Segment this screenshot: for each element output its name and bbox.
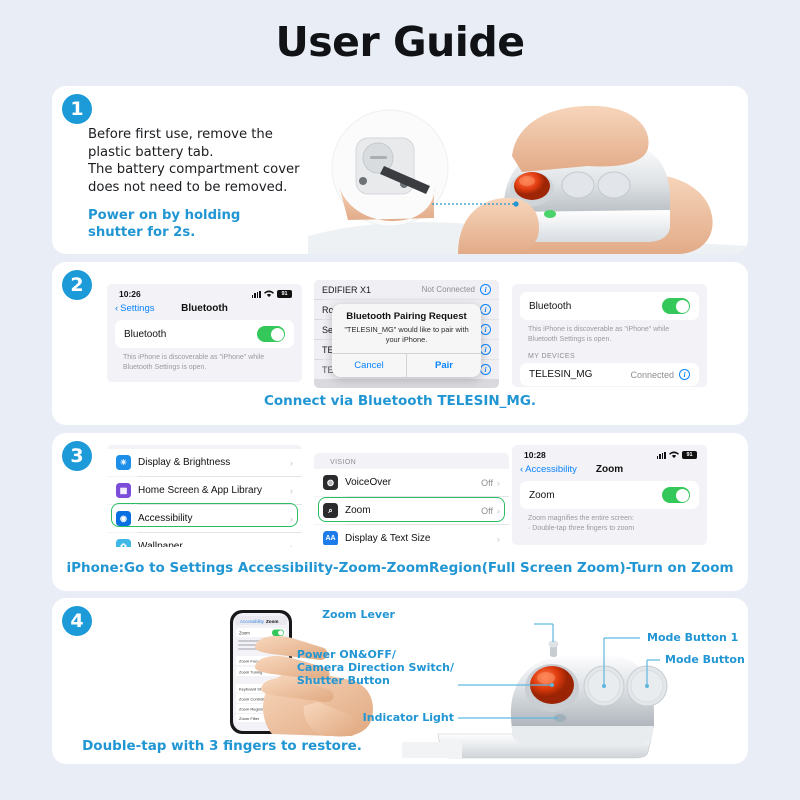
callout-power-shutter: Power ON&OFF/ Camera Direction Switch/ S… [297, 648, 454, 687]
battery-icon: 91 [682, 451, 697, 459]
step-2-panel: 2 10:26 91 ‹ Settings Bluetooth [52, 262, 748, 425]
vision-row-zoom[interactable]: ⌕ Zoom Off › [314, 497, 509, 524]
home-screen-icon: ▦ [116, 483, 131, 498]
bluetooth-toggle[interactable] [662, 298, 690, 314]
status-time: 10:28 [524, 450, 546, 460]
vision-row-label: Zoom [345, 505, 371, 516]
info-icon[interactable]: i [480, 304, 491, 315]
pairing-dialog: Bluetooth Pairing Request "TELESIN_MG" w… [332, 304, 481, 377]
info-icon[interactable]: i [480, 344, 491, 355]
bluetooth-row-label: Bluetooth [124, 329, 166, 340]
zoom-row-label: Zoom [529, 490, 555, 501]
paired-device-status: Connected [630, 370, 674, 380]
info-icon[interactable]: i [480, 324, 491, 335]
bluetooth-connected-screen: Bluetooth This iPhone is discoverable as… [512, 284, 707, 387]
chevron-right-icon: › [290, 514, 293, 524]
bluetooth-footnote: This iPhone is discoverable as "iPhone" … [512, 320, 707, 345]
svg-text:Zoom: Zoom [239, 631, 250, 636]
wifi-icon [264, 290, 274, 298]
voiceover-icon: ◍ [323, 475, 338, 490]
device-status: Not Connected [422, 285, 475, 294]
nav-title: Bluetooth [107, 303, 302, 314]
settings-row-label: Home Screen & App Library [138, 485, 262, 496]
info-icon[interactable]: i [679, 369, 690, 380]
svg-text:Zoom Filter: Zoom Filter [239, 716, 260, 721]
step-3-caption: iPhone:Go to Settings Accessibility-Zoom… [52, 560, 748, 576]
callout-power-line-3: Shutter Button [297, 674, 454, 687]
wallpaper-icon: ✿ [116, 539, 131, 547]
status-bar: 10:26 91 [107, 284, 302, 301]
settings-row-home-screen[interactable]: ▦ Home Screen & App Library › [107, 477, 302, 504]
callout-mode-button-2: Mode Button 2 [665, 653, 748, 666]
settings-row-label: Display & Brightness [138, 457, 230, 468]
bluetooth-toggle[interactable] [257, 326, 285, 342]
step-4-panel: 4 Accessibility Zoom Zoom [52, 598, 748, 764]
step-3-badge: 3 [62, 441, 92, 471]
bluetooth-settings-screen: 10:26 91 ‹ Settings Bluetooth Bluetooth [107, 284, 302, 382]
chevron-right-icon: › [497, 506, 500, 516]
callout-power-line-1: Power ON&OFF/ [297, 648, 454, 661]
callout-indicator-light: Indicator Light [363, 711, 454, 724]
battery-icon: 91 [277, 290, 292, 298]
vision-group-header: VISION [314, 453, 509, 469]
nav-bar: ‹ Accessibility Zoom [512, 462, 707, 481]
device-name: EDIFIER X1 [322, 285, 371, 295]
pair-button[interactable]: Pair [407, 354, 481, 377]
vision-row-label: VoiceOver [345, 477, 391, 488]
signal-icon [657, 452, 666, 459]
my-devices-header: MY DEVICES [512, 345, 707, 363]
bluetooth-footnote: This iPhone is discoverable as "iPhone" … [107, 348, 302, 373]
text-size-icon: AA [323, 531, 338, 545]
step-4-badge: 4 [62, 606, 92, 636]
page-title: User Guide [0, 0, 800, 66]
step-1-accent-line-1: Power on by holding [88, 207, 338, 224]
signal-icon [252, 291, 261, 298]
vision-row-label: Display & Text Size [345, 533, 430, 544]
step-1-line-2: plastic battery tab. [88, 144, 338, 162]
zoom-toggle-row[interactable]: Zoom [520, 481, 699, 509]
dialog-title: Bluetooth Pairing Request [332, 304, 481, 325]
callout-power-line-2: Camera Direction Switch/ [297, 661, 454, 674]
svg-text:Accessibility: Accessibility [240, 619, 265, 624]
settings-row-label: Accessibility [138, 513, 192, 524]
svg-text:Zoom Region: Zoom Region [239, 707, 263, 712]
vision-row-value: Off [481, 506, 493, 516]
zoom-toggle[interactable] [662, 487, 690, 503]
chevron-right-icon: › [497, 534, 500, 544]
callout-mode-button-1: Mode Button 1 [647, 631, 738, 644]
settings-row-display-brightness[interactable]: ☀ Display & Brightness › [107, 449, 302, 476]
accessibility-vision-screen: VISION ◍ VoiceOver Off › ⌕ Zoom Off › AA… [314, 453, 509, 545]
zoom-footnote-line-1: Zoom magnifies the entire screen: [512, 509, 707, 524]
step-4-caption: Double-tap with 3 fingers to restore. [52, 738, 392, 754]
step-1-accent-line-2: shutter for 2s. [88, 224, 338, 241]
settings-row-wallpaper[interactable]: ✿ Wallpaper › [107, 533, 302, 547]
settings-list-screen: ☀ Display & Brightness › ▦ Home Screen &… [107, 445, 302, 547]
chevron-right-icon: › [290, 486, 293, 496]
info-icon[interactable]: i [480, 284, 491, 295]
zoom-icon: ⌕ [323, 503, 338, 518]
step-1-panel: 1 Before first use, remove the plastic b… [52, 86, 748, 254]
step-2-caption: Connect via Bluetooth TELESIN_MG. [52, 393, 748, 409]
bluetooth-toggle-row[interactable]: Bluetooth [115, 320, 294, 348]
vision-row-value: Off [481, 478, 493, 488]
zoom-settings-screen: 10:28 91 ‹ Accessibility Zoom Zoom [512, 445, 707, 545]
accessibility-icon: ◉ [116, 511, 131, 526]
chevron-right-icon: › [290, 458, 293, 468]
callout-zoom-lever: Zoom Lever [322, 608, 395, 621]
step-1-line-1: Before first use, remove the [88, 126, 338, 144]
step-3-panel: 3 ☀ Display & Brightness › ▦ Home Screen… [52, 433, 748, 591]
user-guide-page: User Guide 1 Before first use, remove th… [0, 0, 800, 800]
chevron-right-icon: › [497, 478, 500, 488]
svg-text:Zoom: Zoom [266, 619, 279, 624]
step-2-badge: 2 [62, 270, 92, 300]
status-time: 10:26 [119, 289, 141, 299]
pairing-request-screen: EDIFIER X1 Not Connected i Rou i Self i … [314, 280, 499, 388]
device-row[interactable]: EDIFIER X1 Not Connected i [314, 280, 499, 299]
wifi-icon [669, 451, 679, 459]
dialog-body: "TELESIN_MG" would like to pair with you… [332, 325, 481, 353]
info-icon[interactable]: i [480, 364, 491, 375]
remote-in-hand-photo [308, 86, 748, 254]
paired-device-name: TELESIN_MG [529, 369, 592, 380]
bluetooth-row-label: Bluetooth [529, 301, 571, 312]
nav-bar: ‹ Settings Bluetooth [107, 301, 302, 320]
vision-row-display-text-size[interactable]: AA Display & Text Size › [314, 525, 509, 545]
vision-row-voiceover[interactable]: ◍ VoiceOver Off › [314, 469, 509, 496]
zoom-footnote-line-2: · Double-tap three fingers to zoom [512, 524, 707, 534]
settings-row-accessibility[interactable]: ◉ Accessibility › [107, 505, 302, 532]
status-bar: 10:28 91 [512, 445, 707, 462]
bluetooth-toggle-row[interactable]: Bluetooth [520, 292, 699, 320]
settings-row-label: Wallpaper [138, 541, 183, 547]
chevron-right-icon: › [290, 542, 293, 548]
nav-title: Zoom [512, 464, 707, 475]
step-1-line-4: does not need to be removed. [88, 179, 338, 197]
paired-device-row[interactable]: TELESIN_MG Connected i [520, 363, 699, 386]
step-1-text-block: Before first use, remove the plastic bat… [88, 126, 338, 241]
remote-diagram: Zoom Lever Mode Button 1 Mode Button 2 I… [402, 602, 748, 762]
step-1-badge: 1 [62, 94, 92, 124]
cancel-button[interactable]: Cancel [332, 354, 407, 377]
display-icon: ☀ [116, 455, 131, 470]
step-1-line-3: The battery compartment cover [88, 161, 338, 179]
